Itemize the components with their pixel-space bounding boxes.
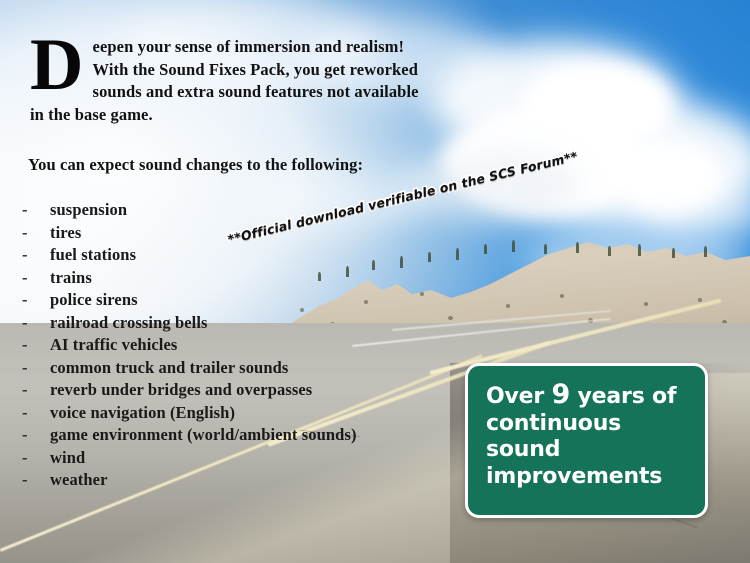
bullet-dash-icon: - [22, 470, 50, 490]
lead-in-text: You can expect sound changes to the foll… [28, 155, 363, 175]
bullet-dash-icon: - [22, 290, 50, 310]
bullet-dash-icon: - [22, 358, 50, 378]
feature-item: -police sirens [22, 290, 357, 313]
poster-canvas: Deepen your sense of immersion and reali… [0, 0, 750, 563]
feature-item: -reverb under bridges and overpasses [22, 380, 357, 403]
feature-item-label: fuel stations [50, 245, 136, 265]
feature-item: -wind [22, 448, 357, 471]
feature-item-label: police sirens [50, 290, 138, 310]
feature-item: -fuel stations [22, 245, 357, 268]
intro-paragraph: Deepen your sense of immersion and reali… [30, 36, 430, 126]
sign-line-4: improvements [486, 464, 705, 491]
feature-item: -game environment (world/ambient sounds) [22, 425, 357, 448]
feature-item: -weather [22, 470, 357, 493]
sign-years-number: 9 [551, 379, 570, 410]
feature-item-label: trains [50, 268, 92, 288]
bullet-dash-icon: - [22, 200, 50, 220]
poster-content: Deepen your sense of immersion and reali… [0, 0, 750, 563]
feature-item: -trains [22, 268, 357, 291]
bullet-dash-icon: - [22, 223, 50, 243]
feature-item: -voice navigation (English) [22, 403, 357, 426]
feature-item-label: reverb under bridges and overpasses [50, 380, 312, 400]
feature-item-label: railroad crossing bells [50, 313, 208, 333]
feature-item: -railroad crossing bells [22, 313, 357, 336]
bullet-dash-icon: - [22, 448, 50, 468]
feature-item-label: game environment (world/ambient sounds) [50, 425, 357, 445]
bullet-dash-icon: - [22, 335, 50, 355]
bullet-dash-icon: - [22, 245, 50, 265]
bullet-dash-icon: - [22, 425, 50, 445]
bullet-dash-icon: - [22, 313, 50, 333]
bullet-dash-icon: - [22, 403, 50, 423]
sign-line-2: continuous [486, 411, 705, 438]
feature-list: -suspension-tires-fuel stations-trains-p… [22, 200, 357, 493]
feature-item-label: weather [50, 470, 108, 490]
highway-sign: Over 9 years of continuous sound improve… [465, 363, 708, 518]
feature-item-label: voice navigation (English) [50, 403, 235, 423]
bullet-dash-icon: - [22, 380, 50, 400]
bullet-dash-icon: - [22, 268, 50, 288]
feature-item: -AI traffic vehicles [22, 335, 357, 358]
sign-line1-prefix: Over [486, 384, 551, 409]
sign-line-1: Over 9 years of [486, 382, 705, 411]
feature-item: -common truck and trailer sounds [22, 358, 357, 381]
feature-item-label: wind [50, 448, 85, 468]
feature-item-label: AI traffic vehicles [50, 335, 177, 355]
feature-item-label: suspension [50, 200, 127, 220]
drop-cap-letter: D [30, 32, 93, 96]
sign-line-3: sound [486, 437, 705, 464]
feature-item-label: tires [50, 223, 81, 243]
sign-line1-suffix: years of [570, 384, 676, 409]
feature-item-label: common truck and trailer sounds [50, 358, 288, 378]
